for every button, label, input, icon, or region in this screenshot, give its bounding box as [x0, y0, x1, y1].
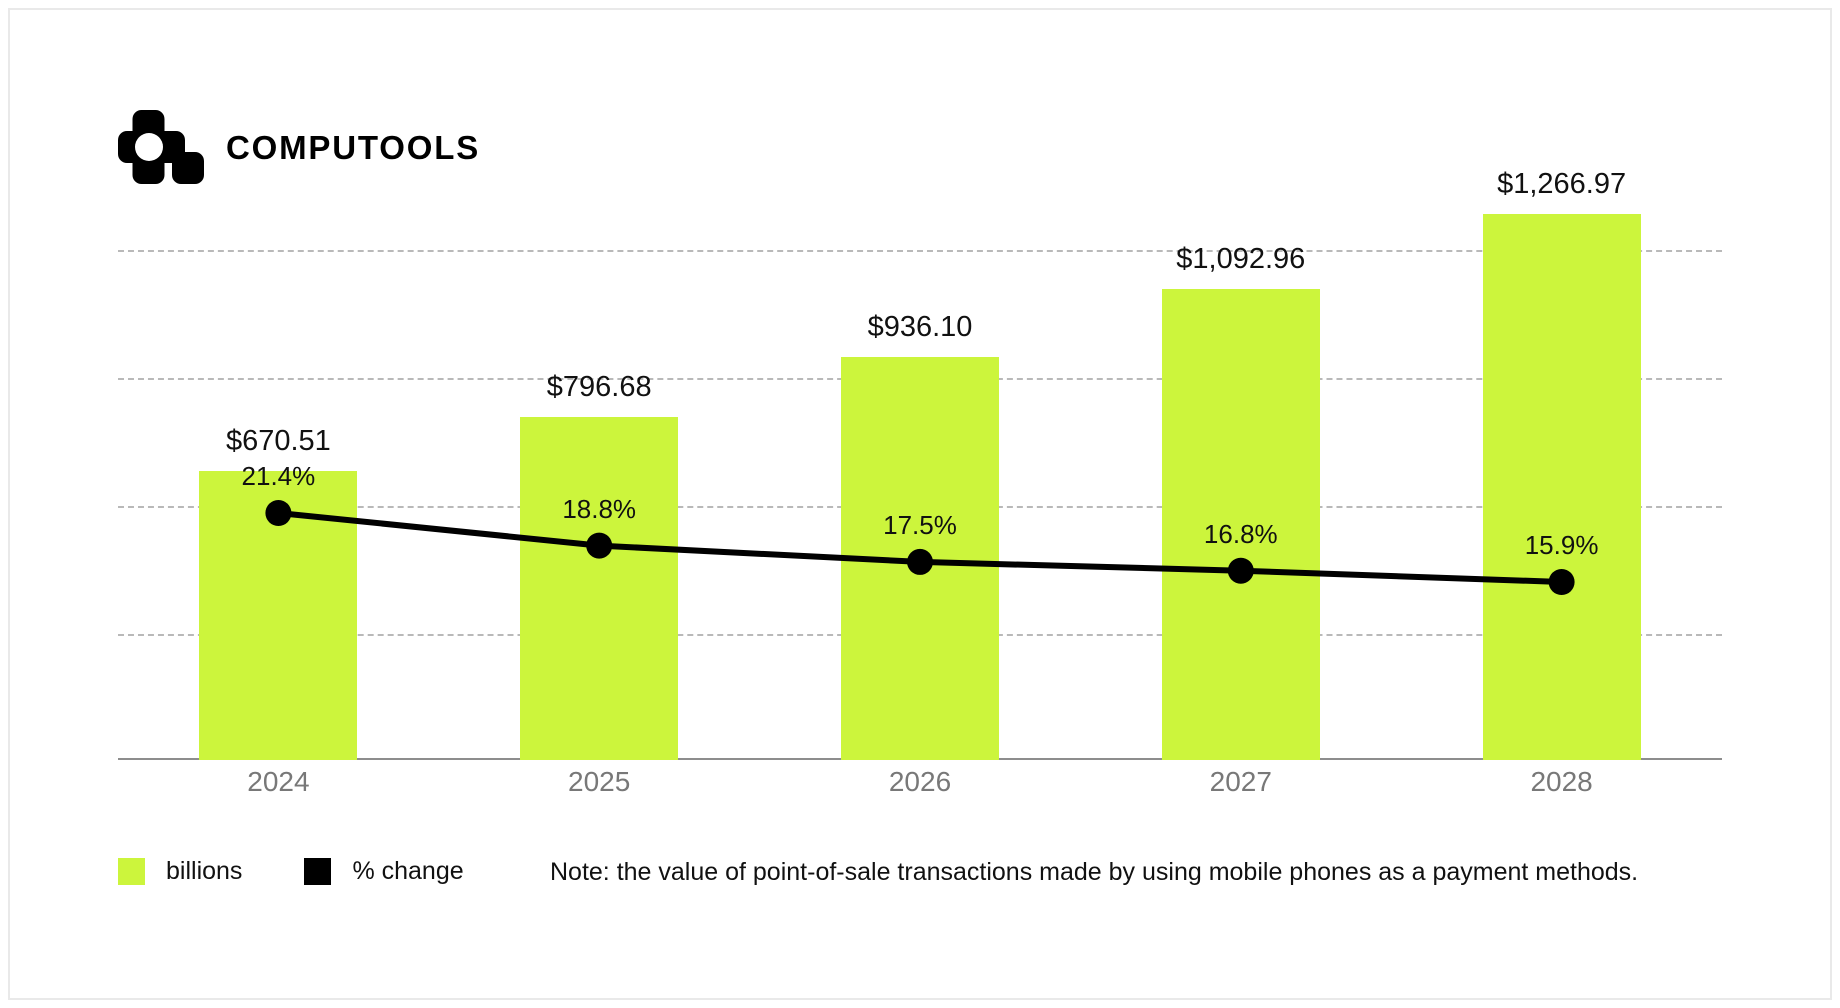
legend-swatch-billions [118, 858, 145, 885]
x-tick-2027: 2027 [1210, 768, 1272, 796]
pct-change-label-2025: 18.8% [562, 496, 636, 522]
legend-item-billions[interactable]: billions [118, 858, 242, 885]
bar-value-label-2027: $1,092.96 [1176, 245, 1305, 274]
computools-blocks-logo-icon [118, 110, 204, 184]
pct-change-label-2027: 16.8% [1204, 521, 1278, 547]
x-tick-2025: 2025 [568, 768, 630, 796]
x-tick-2026: 2026 [889, 768, 951, 796]
bar-value-label-2024: $670.51 [226, 427, 331, 456]
x-axis-ticks: 20242025202620272028 [118, 768, 1722, 808]
legend-label-pct-change: % change [352, 859, 463, 884]
pct-change-label-2028: 15.9% [1525, 532, 1599, 558]
chart-legend: billions % change [118, 858, 464, 885]
plot-area: $670.5121.4%$796.6818.8%$936.1017.5%$1,0… [118, 200, 1722, 760]
pct-change-label-2026: 17.5% [883, 512, 957, 538]
bar-value-label-2026: $936.10 [868, 313, 973, 342]
x-tick-2028: 2028 [1530, 768, 1592, 796]
legend-label-billions: billions [166, 859, 242, 884]
brand-logo: COMPUTOOLS [118, 110, 480, 184]
pct-change-label-2024: 21.4% [242, 463, 316, 489]
brand-name: COMPUTOOLS [226, 131, 480, 164]
chart-canvas: COMPUTOOLS $670.5121.4%$796.6818.8%$936.… [0, 0, 1840, 1008]
legend-item-pct-change[interactable]: % change [304, 858, 463, 885]
x-tick-2024: 2024 [247, 768, 309, 796]
chart-note: Note: the value of point-of-sale transac… [550, 860, 1638, 885]
bar-value-label-2028: $1,266.97 [1497, 170, 1626, 199]
bar-value-label-2025: $796.68 [547, 373, 652, 402]
legend-swatch-pct-change [304, 858, 331, 885]
labels-layer: $670.5121.4%$796.6818.8%$936.1017.5%$1,0… [118, 200, 1722, 760]
